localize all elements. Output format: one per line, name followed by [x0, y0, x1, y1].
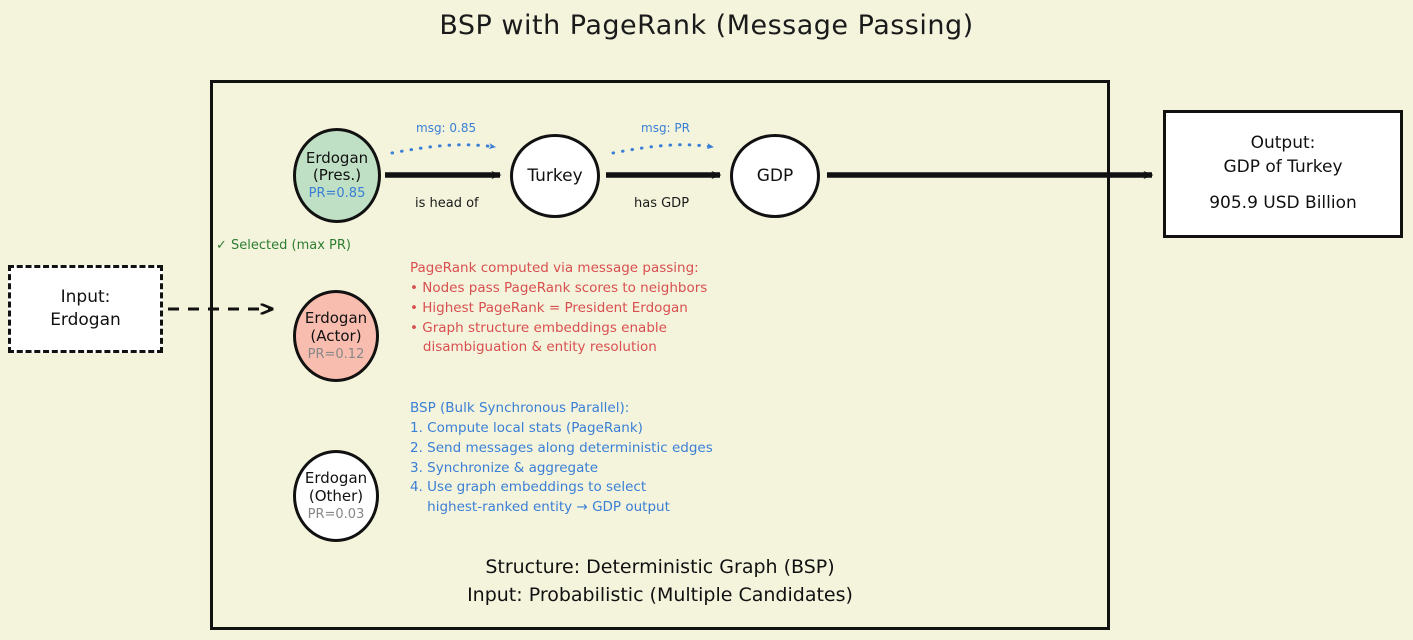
node-erdogan-president[interactable]: Erdogan (Pres.) PR=0.85	[293, 128, 381, 223]
message-label-turkey-gdp: msg: PR	[641, 121, 690, 135]
node-gdp[interactable]: GDP	[730, 134, 820, 218]
summary-line-input: Input: Probabilistic (Multiple Candidate…	[210, 582, 1110, 610]
summary-line-structure: Structure: Deterministic Graph (BSP)	[210, 554, 1110, 582]
output-box-line1: Output:	[1251, 132, 1316, 156]
page-title: BSP with PageRank (Message Passing)	[0, 10, 1413, 41]
input-box[interactable]: Input: Erdogan	[8, 265, 163, 353]
node-label-line2: (Actor)	[310, 328, 361, 346]
node-erdogan-other[interactable]: Erdogan (Other) PR=0.03	[293, 450, 379, 542]
node-label-line1: Erdogan	[305, 470, 367, 488]
node-erdogan-actor[interactable]: Erdogan (Actor) PR=0.12	[293, 290, 379, 382]
output-box-value: 905.9 USD Billion	[1209, 192, 1357, 216]
message-label-pres-turkey: msg: 0.85	[416, 121, 476, 135]
node-pagerank-value: PR=0.12	[308, 347, 365, 362]
node-label: Turkey	[527, 166, 582, 186]
output-box: Output: GDP of Turkey 905.9 USD Billion	[1163, 110, 1403, 238]
node-pagerank-value: PR=0.03	[308, 507, 365, 522]
node-label: GDP	[757, 166, 794, 186]
edge-label-is-head-of: is head of	[415, 196, 479, 211]
summary-text: Structure: Deterministic Graph (BSP) Inp…	[210, 554, 1110, 609]
annotation-pagerank: PageRank computed via message passing: •…	[410, 259, 707, 358]
annotation-bsp: BSP (Bulk Synchronous Parallel): 1. Comp…	[410, 399, 713, 518]
node-turkey[interactable]: Turkey	[510, 134, 600, 218]
edge-label-has-gdp: has GDP	[634, 196, 689, 211]
node-pagerank-value: PR=0.85	[309, 186, 366, 201]
input-box-line1: Input:	[61, 286, 111, 309]
input-box-line2: Erdogan	[50, 309, 121, 332]
node-label-line2: (Other)	[309, 488, 363, 506]
selected-max-pr-label: ✓ Selected (max PR)	[216, 238, 351, 253]
node-label-line2: (Pres.)	[313, 167, 361, 185]
node-label-line1: Erdogan	[306, 150, 368, 168]
node-label-line1: Erdogan	[305, 310, 367, 328]
output-box-line2: GDP of Turkey	[1223, 156, 1342, 180]
